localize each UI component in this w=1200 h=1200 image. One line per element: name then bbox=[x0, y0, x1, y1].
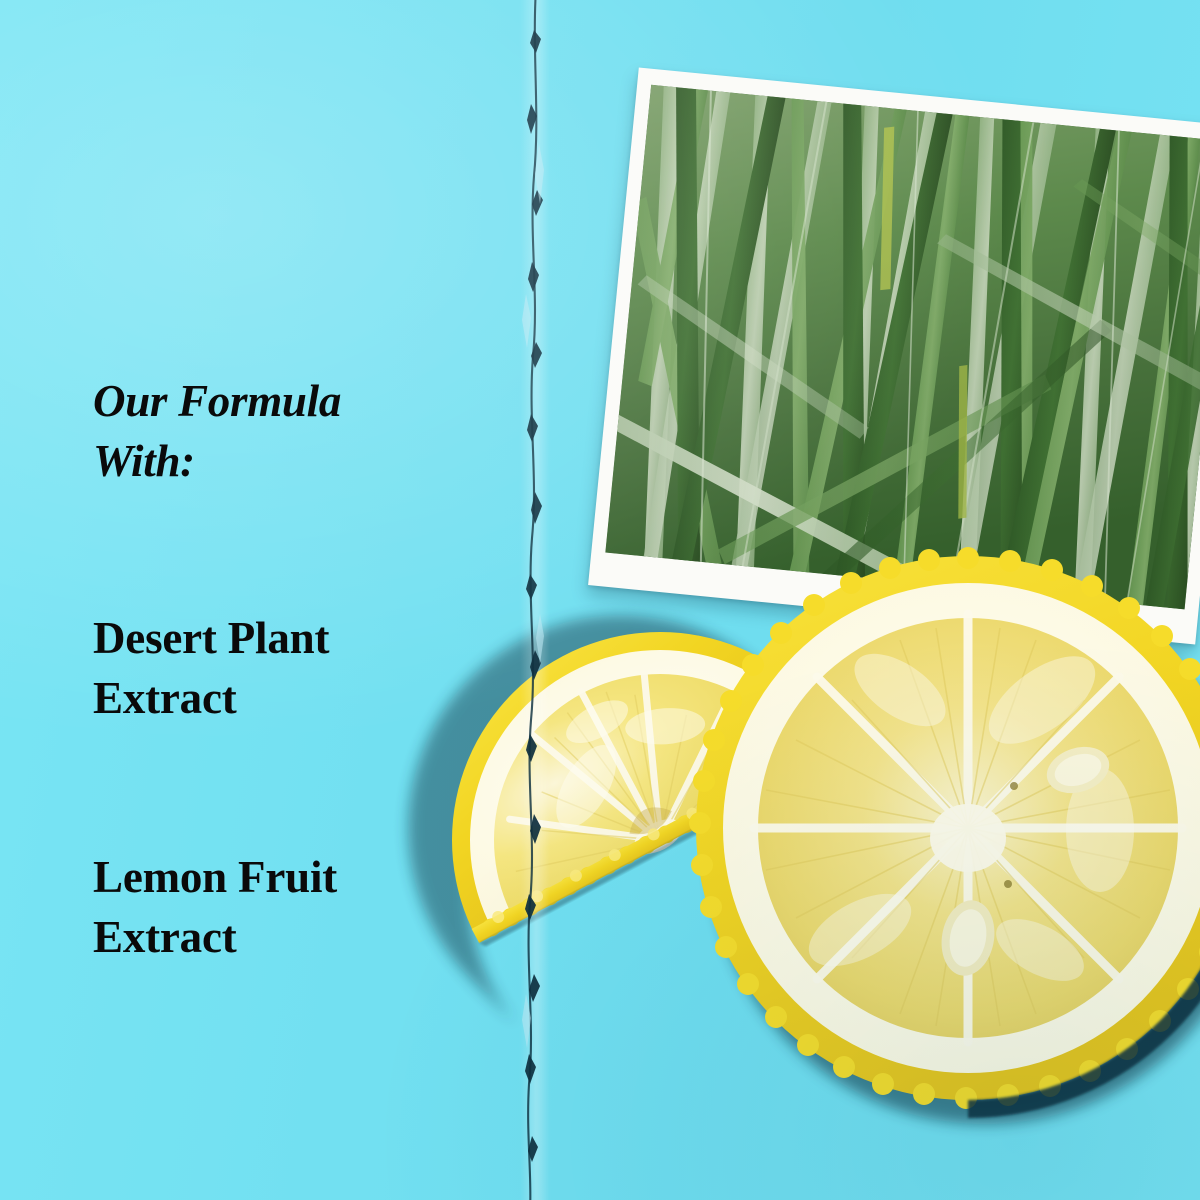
polaroid-photo-frame bbox=[588, 67, 1200, 644]
ingredient-item-lemon-fruit-extract: Lemon Fruit Extract bbox=[93, 848, 493, 968]
grass-photograph bbox=[605, 85, 1200, 610]
promo-canvas: Our Formula With: Desert Plant Extract L… bbox=[0, 0, 1200, 1200]
ingredient-item-desert-plant-extract: Desert Plant Extract bbox=[93, 609, 493, 729]
page-title: Our Formula With: bbox=[93, 372, 493, 492]
ingredient-list: Desert Plant Extract Lemon Fruit Extract bbox=[93, 609, 493, 968]
copy-block: Our Formula With: Desert Plant Extract L… bbox=[93, 372, 493, 968]
